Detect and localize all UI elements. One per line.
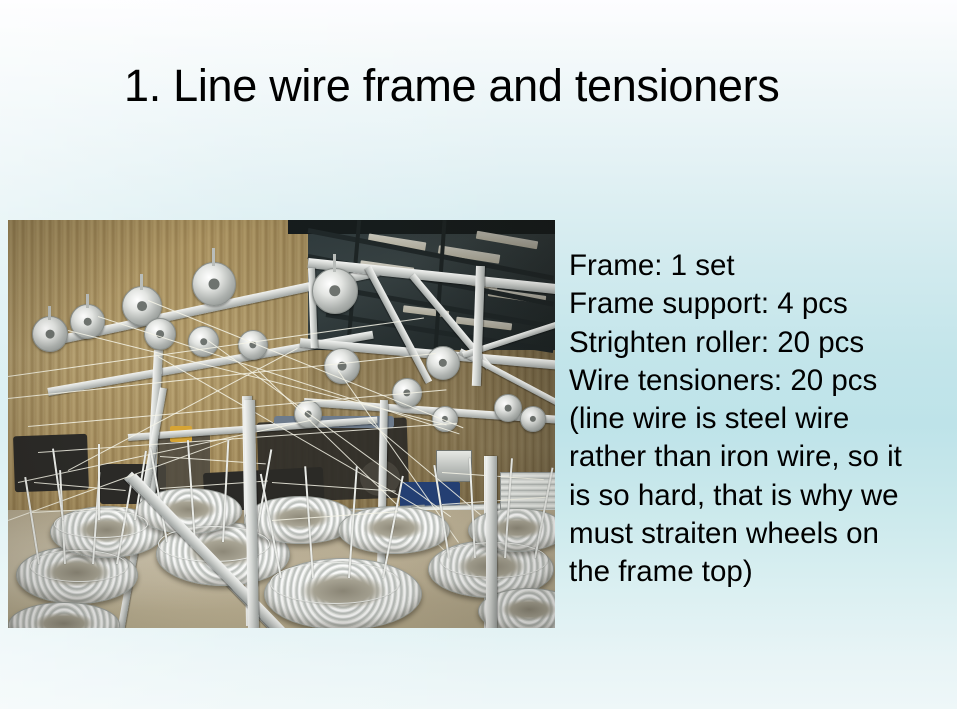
spec-line: must straiten wheels on	[569, 515, 947, 553]
factory-photo	[8, 220, 555, 628]
page-title: 1. Line wire frame and tensioners	[124, 58, 924, 114]
slide-canvas: 1. Line wire frame and tensioners	[0, 0, 957, 709]
spec-text-block: Frame: 1 set Frame support: 4 pcs Strigh…	[569, 247, 947, 592]
spec-line: (line wire is steel wire	[569, 400, 947, 438]
spec-line: is so hard, that is why we	[569, 477, 947, 515]
spec-line: rather than iron wire, so it	[569, 438, 947, 476]
spec-line: Frame support: 4 pcs	[569, 285, 947, 323]
spec-line: Wire tensioners: 20 pcs	[569, 362, 947, 400]
spec-line: Strighten roller: 20 pcs	[569, 324, 947, 362]
spec-line: Frame: 1 set	[569, 247, 947, 285]
spec-line: the frame top)	[569, 553, 947, 591]
photo-vignette	[8, 220, 555, 628]
